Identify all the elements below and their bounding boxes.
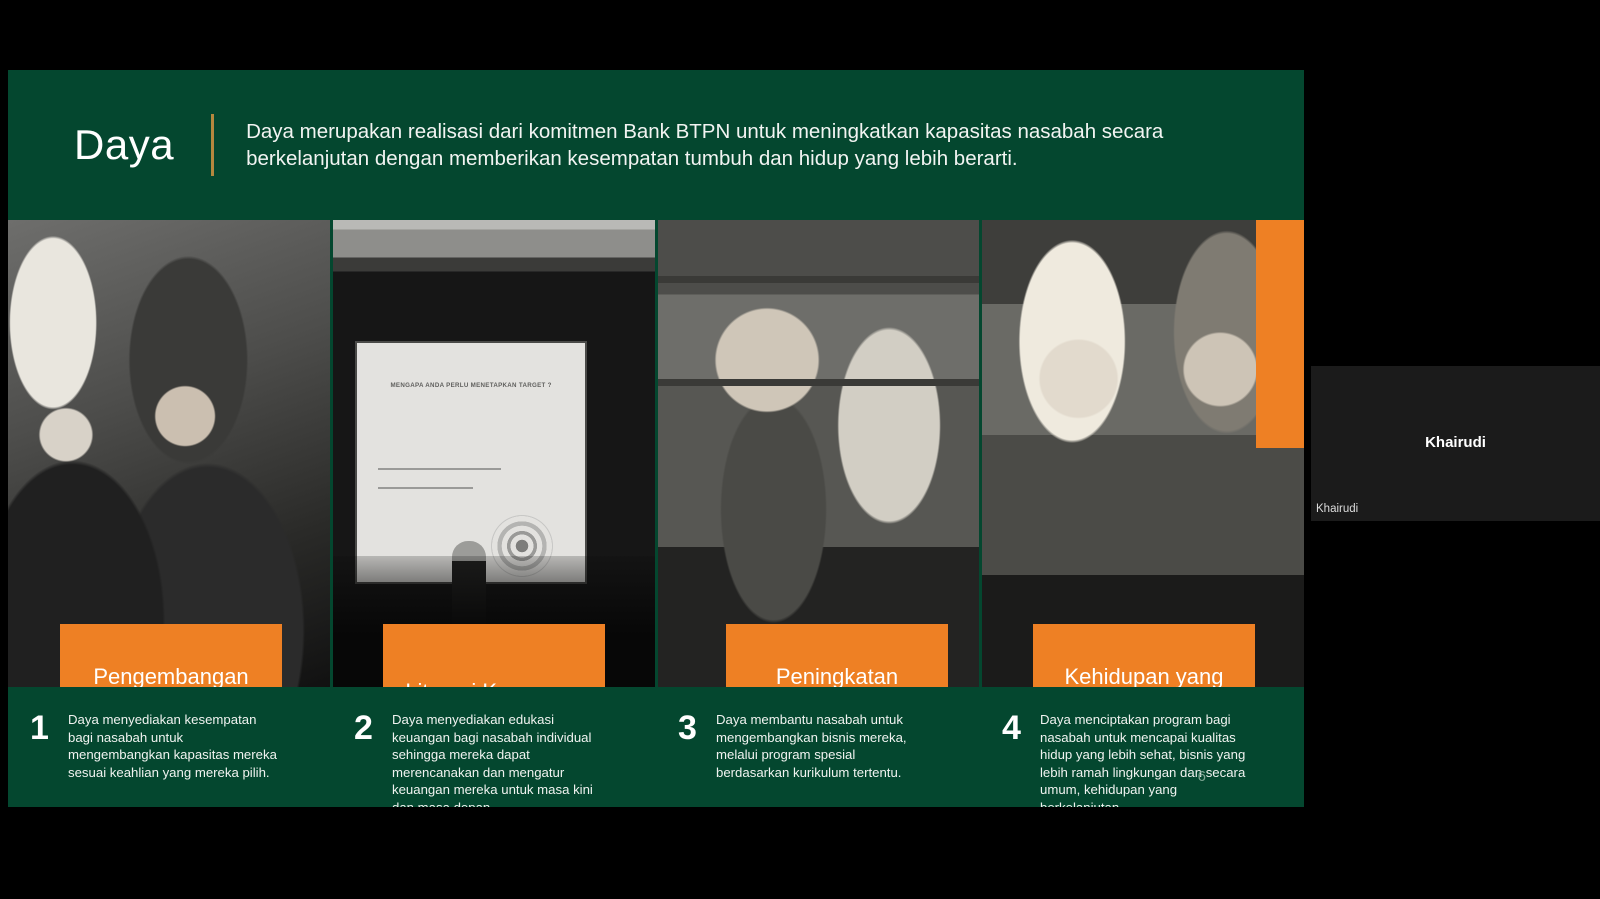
slide-header: Daya Daya merupakan realisasi dari komit… xyxy=(8,70,1304,220)
numbered-item-2: 2 Daya menyediakan edukasi keuangan bagi… xyxy=(332,711,656,807)
photo-cell-1 xyxy=(8,220,333,687)
shelf-line xyxy=(658,379,980,386)
numbered-item-1: 1 Daya menyediakan kesempatan bagi nasab… xyxy=(8,711,332,807)
item-text: Daya menyediakan kesempatan bagi nasabah… xyxy=(68,711,280,807)
audience-silhouette xyxy=(333,556,655,687)
meeting-screen: Daya Daya merupakan realisasi dari komit… xyxy=(0,0,1600,899)
board-bullet-line xyxy=(378,468,501,470)
item-number: 1 xyxy=(30,711,56,807)
numbered-item-4: 4 Daya menciptakan program bagi nasabah … xyxy=(980,711,1304,807)
slide-subtitle: Daya merupakan realisasi dari komitmen B… xyxy=(246,118,1236,173)
item-number: 4 xyxy=(1002,711,1028,807)
photo-cell-4 xyxy=(982,220,1304,687)
title-divider xyxy=(211,114,214,176)
shelf-line xyxy=(658,276,980,283)
participant-tile[interactable]: Khairudi Khairudi xyxy=(1311,366,1600,521)
participant-name: Khairudi xyxy=(1311,434,1600,451)
orange-accent-bar xyxy=(1256,220,1304,448)
smiling-shopkeeper-in-apron-photo xyxy=(658,220,980,687)
item-text: Daya membantu nasabah untuk mengembangka… xyxy=(716,711,928,807)
slide-page-number: 6 xyxy=(1198,768,1206,785)
photo-strip: MENGAPA ANDA PERLU MENETAPKAN TARGET ? xyxy=(8,220,1304,687)
photo-cell-2: MENGAPA ANDA PERLU MENETAPKAN TARGET ? xyxy=(333,220,658,687)
shared-slide[interactable]: Daya Daya merupakan realisasi dari komit… xyxy=(8,70,1304,807)
numbered-items-band: 1 Daya menyediakan kesempatan bagi nasab… xyxy=(8,687,1304,807)
two-people-uniform-and-hijab-photo xyxy=(8,220,330,687)
item-text: Daya menyediakan edukasi keuangan bagi n… xyxy=(392,711,604,807)
numbered-item-3: 3 Daya membantu nasabah untuk mengembang… xyxy=(656,711,980,807)
participant-name-label: Khairudi xyxy=(1316,503,1358,515)
projector-board-title: MENGAPA ANDA PERLU MENETAPKAN TARGET ? xyxy=(357,382,585,389)
board-bullet-line xyxy=(378,487,474,489)
classroom-projector-screen-photo: MENGAPA ANDA PERLU MENETAPKAN TARGET ? xyxy=(333,220,655,687)
item-number: 2 xyxy=(354,711,380,807)
page-title: Daya xyxy=(74,121,174,169)
item-number: 3 xyxy=(678,711,704,807)
item-text: Daya menciptakan program bagi nasabah un… xyxy=(1040,711,1252,807)
photo-cell-3 xyxy=(658,220,983,687)
